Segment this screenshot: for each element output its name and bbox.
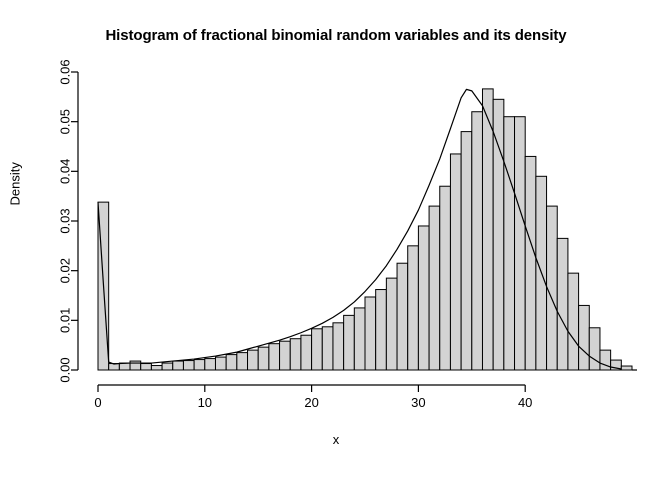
histogram-bar: [450, 154, 461, 370]
x-axis-tick-label: 30: [411, 395, 425, 410]
x-axis-tick-label: 20: [304, 395, 318, 410]
y-axis-tick-label: 0.01: [58, 308, 73, 333]
histogram-bar: [472, 112, 483, 370]
histogram-bar: [237, 353, 248, 370]
histogram-bar: [194, 360, 205, 370]
histogram-bar: [269, 344, 280, 370]
histogram-bar: [354, 308, 365, 370]
y-axis: 0.000.010.020.030.040.050.06: [58, 59, 79, 382]
histogram-bar: [141, 364, 152, 370]
histogram-bar: [376, 290, 387, 370]
histogram-bar: [515, 117, 526, 370]
x-axis-tick-label: 40: [518, 395, 532, 410]
y-axis-tick-label: 0.03: [58, 208, 73, 233]
x-axis-tick-label: 0: [94, 395, 101, 410]
histogram-bar: [397, 263, 408, 370]
histogram-bar: [408, 246, 419, 370]
histogram-bar: [226, 355, 237, 370]
histogram-bar: [418, 226, 429, 370]
histogram-bar: [119, 363, 130, 370]
histogram-bar: [322, 327, 333, 370]
y-axis-tick-label: 0.00: [58, 357, 73, 382]
histogram-bar: [301, 335, 312, 370]
histogram-bars: [98, 89, 632, 370]
histogram-bar: [429, 206, 440, 370]
histogram-bar: [365, 297, 376, 370]
histogram-bar: [461, 132, 472, 370]
y-axis-tick-label: 0.02: [58, 258, 73, 283]
histogram-bar: [333, 323, 344, 370]
histogram-bar: [151, 366, 162, 370]
y-axis-tick-label: 0.05: [58, 109, 73, 134]
histogram-bar: [482, 89, 493, 370]
histogram-bar: [547, 206, 558, 370]
histogram-bar: [162, 363, 173, 370]
histogram-bar: [280, 341, 291, 370]
histogram-bar: [504, 117, 515, 370]
histogram-plot: Histogram of fractional binomial random …: [0, 0, 672, 480]
histogram-bar: [173, 361, 184, 370]
histogram-bar: [525, 156, 536, 370]
x-axis-tick-label: 10: [198, 395, 212, 410]
histogram-bar: [248, 350, 259, 370]
histogram-bar: [386, 278, 397, 370]
y-axis-tick-label: 0.04: [58, 159, 73, 184]
histogram-bar: [621, 366, 632, 370]
histogram-bar: [258, 347, 269, 370]
histogram-bar: [183, 361, 194, 370]
plot-canvas: 0.000.010.020.030.040.050.06 010203040: [0, 0, 672, 480]
histogram-bar: [579, 305, 590, 370]
histogram-bar: [557, 238, 568, 370]
histogram-bar: [589, 328, 600, 370]
histogram-bar: [215, 357, 226, 370]
histogram-bar: [440, 186, 451, 370]
histogram-bar: [312, 329, 323, 370]
histogram-bar: [568, 273, 579, 370]
histogram-bar: [493, 99, 504, 370]
histogram-bar: [290, 339, 301, 370]
histogram-bar: [130, 361, 141, 370]
x-axis: 010203040: [94, 385, 532, 410]
histogram-bar: [205, 359, 216, 370]
histogram-bar: [344, 315, 355, 370]
y-axis-tick-label: 0.06: [58, 59, 73, 84]
